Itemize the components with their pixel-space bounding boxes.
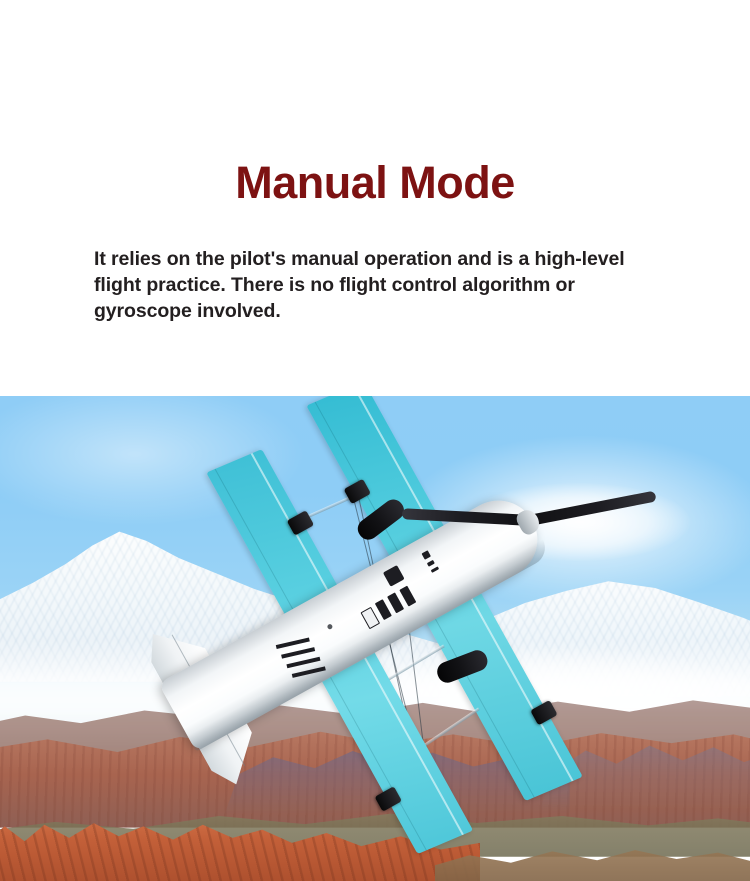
fuselage-marking xyxy=(421,550,431,560)
rc-airplane xyxy=(107,426,627,856)
fuselage-marking xyxy=(431,566,439,573)
wing-strut xyxy=(422,707,480,748)
page-title: Manual Mode xyxy=(0,158,750,208)
fuselage-marking xyxy=(327,623,334,630)
fuselage-stripe xyxy=(281,647,315,659)
hero-photo xyxy=(0,396,750,881)
airplane-body-group xyxy=(53,396,681,881)
fuselage-marking xyxy=(383,564,405,586)
page-description: It relies on the pilot's manual operatio… xyxy=(94,246,660,324)
fuselage-marking xyxy=(360,606,380,628)
fuselage-stripe xyxy=(276,637,310,649)
fuselage-marking xyxy=(399,585,416,606)
text-section: Manual Mode It relies on the pilot's man… xyxy=(0,0,750,396)
product-detail-page: Manual Mode It relies on the pilot's man… xyxy=(0,0,750,881)
fuselage-marking xyxy=(427,559,435,566)
